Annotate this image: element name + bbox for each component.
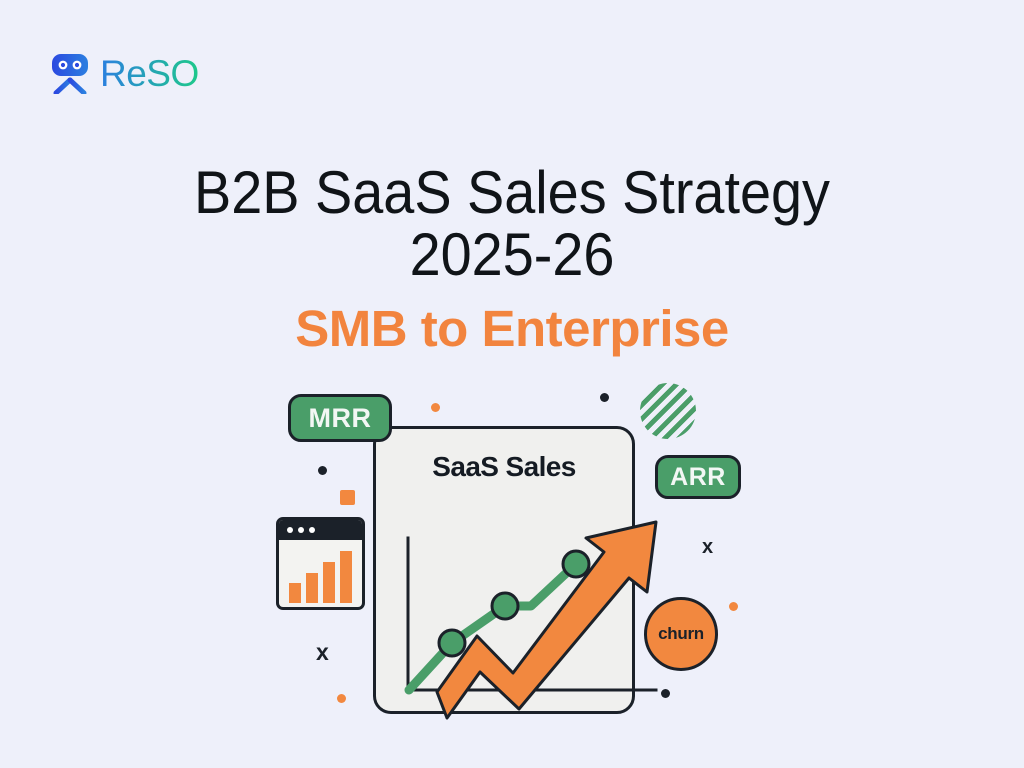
- decor-dot-orange-3: [337, 694, 346, 703]
- brand-wordmark: ReSO: [100, 55, 199, 92]
- title-line-1: B2B SaaS Sales Strategy: [36, 162, 988, 224]
- page-subtitle: SMB to Enterprise: [0, 302, 1024, 356]
- decor-dot-orange-1: [431, 403, 440, 412]
- mini-bar-3: [323, 562, 335, 603]
- mini-bar-1: [289, 583, 301, 603]
- mini-bar-2: [306, 573, 318, 603]
- browser-dot-icon-3: [309, 527, 315, 533]
- robot-head-icon: [48, 52, 92, 94]
- decor-x-icon-left: x: [316, 641, 329, 664]
- churn-bubble: churn: [644, 597, 718, 671]
- decor-dot-dark-1: [600, 393, 609, 402]
- mini-bar-4: [340, 551, 352, 603]
- hero-illustration: x x SaaS Sales: [0, 0, 1024, 768]
- brand-logo[interactable]: ReSO: [48, 52, 199, 94]
- decor-dot-orange-2: [729, 602, 738, 611]
- browser-dot-icon-1: [287, 527, 293, 533]
- badge-mrr: MRR: [288, 394, 392, 442]
- title-line-2: 2025-26: [36, 224, 988, 286]
- decor-dot-dark-2: [318, 466, 327, 475]
- slide-canvas: ReSO B2B SaaS Sales Strategy 2025-26 SMB…: [0, 0, 1024, 768]
- browser-window-mock: [276, 517, 365, 610]
- decor-square-orange-1: [340, 490, 355, 505]
- mini-bar-chart: [279, 540, 362, 610]
- browser-titlebar: [279, 520, 362, 540]
- badge-arr: ARR: [655, 455, 741, 499]
- chart-graphics: [373, 426, 703, 726]
- page-title: B2B SaaS Sales Strategy 2025-26 SMB to E…: [0, 162, 1024, 355]
- browser-dot-icon-2: [298, 527, 304, 533]
- decor-x-icon-right: x: [702, 537, 713, 557]
